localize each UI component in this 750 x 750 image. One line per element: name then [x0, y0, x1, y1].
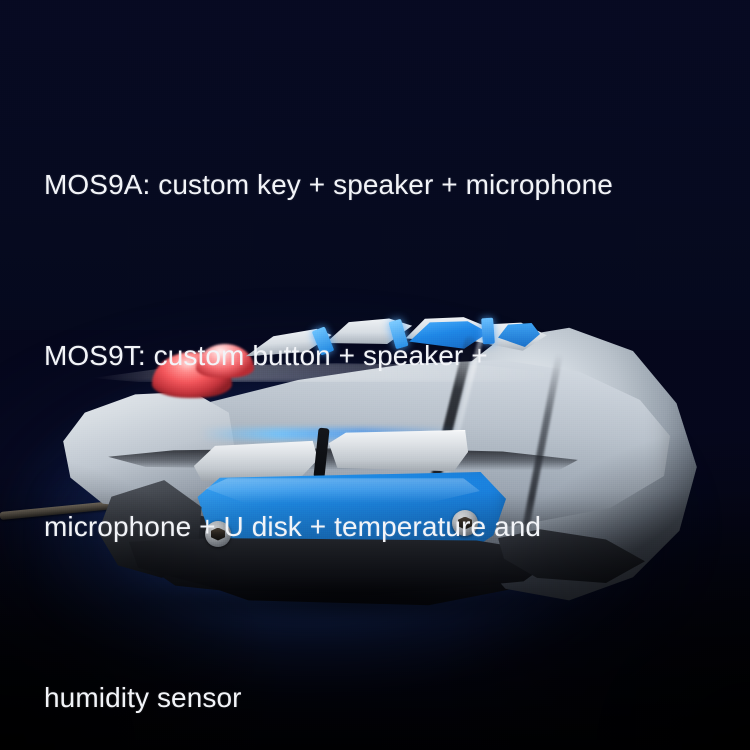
caption-line-1: MOS9A: custom key + speaker + microphone — [44, 156, 734, 213]
caption-line-2: MOS9T: custom button + speaker + — [44, 327, 734, 384]
caption-line-4: humidity sensor — [44, 669, 734, 726]
product-caption: MOS9A: custom key + speaker + microphone… — [44, 42, 734, 750]
product-image-page: MOS9A: custom key + speaker + microphone… — [0, 0, 750, 750]
caption-line-3: microphone + U disk + temperature and — [44, 498, 734, 555]
